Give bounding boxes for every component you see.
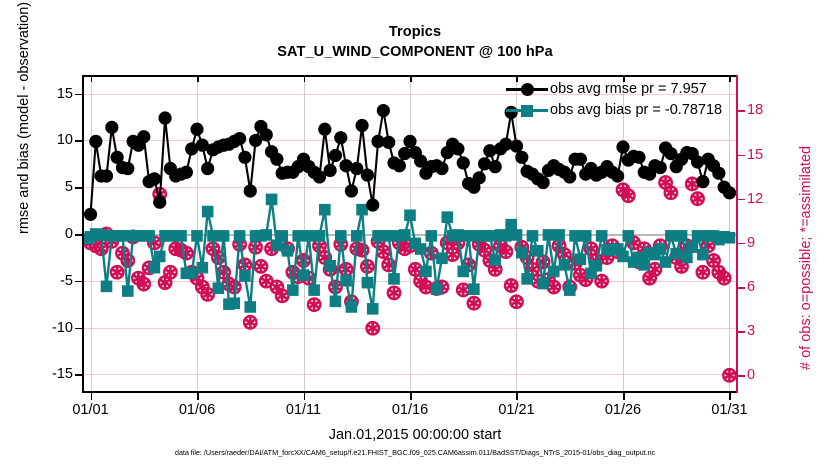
bias-point-marker [505,219,517,231]
x-axis-title: Jan.01,2015 00:00:00 start [0,427,830,443]
rmse-point-marker [366,198,379,211]
x-axis-tick [91,393,93,400]
bias-point-marker [457,266,469,278]
rmse-point-marker [510,139,523,152]
rmse-point-marker [696,175,709,188]
bias-point-marker [388,273,400,285]
legend-circle-icon [521,83,534,96]
bias-point-marker [697,249,709,261]
legend-item-label: obs avg bias pr = -0.78718 [550,100,722,121]
axis-line-left [82,75,84,393]
bias-point-marker [681,252,693,264]
x-axis-tick-label: 01/01 [72,402,108,418]
rmse-point-marker [148,172,161,185]
rmse-point-marker [377,104,390,117]
bias-point-marker [197,262,209,274]
bias-point-marker [367,303,379,315]
bias-point-marker [692,230,704,242]
bias-point-marker [117,230,129,242]
rmse-point-marker [89,135,102,148]
bias-point-marker [298,269,310,281]
legend-square-icon [521,105,533,117]
bias-point-marker [266,194,278,206]
series-obs-avg-rmse-pr [84,104,736,221]
bias-point-marker [468,283,480,295]
bias-point-marker [175,230,187,242]
bias-point-marker [228,297,240,309]
axis-line-bottom [82,391,738,393]
bias-point-marker [282,245,294,257]
x-axis-tick-label: 01/26 [605,402,641,418]
bias-point-marker [101,281,113,293]
x-axis-tick [516,393,518,400]
bias-point-marker [516,247,528,259]
bias-point-marker [489,254,501,266]
bias-point-marker [383,230,395,242]
bias-point-marker [218,230,230,242]
y-axis-left-tick [75,140,82,142]
legend-marker-sample [504,100,550,121]
y-axis-left-tick [75,281,82,283]
bias-point-marker [314,230,326,242]
bias-point-marker [553,229,565,241]
data-file-footnote: data file: /Users/raeder/DAI/ATM_forcXX/… [0,448,830,457]
rmse-point-marker [238,151,251,164]
bias-point-marker [463,230,475,242]
rmse-point-marker [574,153,587,166]
y-axis-right-tick [738,331,745,333]
rmse-point-marker [244,184,257,197]
y-axis-right-tick-label: 9 [747,235,755,251]
bias-point-marker [234,230,246,242]
rmse-point-marker [403,135,416,148]
bias-point-marker [202,206,214,218]
title-line-region: Tropics [0,22,830,42]
x-axis-tick [623,393,625,400]
bias-point-marker [724,232,736,244]
bias-point-marker [425,230,437,242]
rmse-point-marker [121,162,134,175]
bias-point-marker [596,230,608,242]
x-axis-tick [304,393,306,400]
y-axis-left-tick [75,234,82,236]
rmse-point-marker [457,156,470,169]
bias-point-marker [330,296,342,308]
bias-point-marker [292,230,304,242]
rmse-point-marker [712,167,725,180]
bias-point-marker [580,230,592,242]
y-axis-left-tick [75,187,82,189]
legend-marker-sample [504,79,550,100]
y-axis-right-tick [738,199,745,201]
y-axis-right-tick-label: 15 [747,147,763,163]
bias-point-marker [564,284,576,296]
bias-point-marker [543,229,555,241]
rmse-point-marker [270,153,283,166]
x-axis-tick [729,393,731,400]
bias-point-marker [287,284,299,296]
plot-area: 151050-5-10-15181512963001/0101/0601/110… [82,75,738,393]
bias-point-marker [415,243,427,255]
axis-line-top [82,75,738,77]
bias-point-marker [122,285,134,297]
bias-point-marker [532,245,544,257]
bias-point-marker [303,230,315,242]
bias-point-marker [362,277,374,289]
rmse-point-marker [632,151,645,164]
y-axis-left-tick-label: 15 [57,86,73,102]
bias-point-marker [319,204,331,216]
bias-point-marker [431,283,443,295]
x-axis-tick [197,393,199,400]
bias-point-marker [260,229,272,241]
y-axis-left-tick [75,328,82,330]
rmse-point-marker [451,142,464,155]
y-axis-right-tick [738,243,745,245]
bias-point-marker [324,260,336,272]
chart-figure: Tropics SAT_U_WIND_COMPONENT @ 100 hPa r… [0,0,830,470]
rmse-point-marker [105,121,118,134]
bias-point-marker [575,253,587,265]
bias-point-marker [548,266,560,278]
series-layer [82,75,738,393]
x-axis-tick-label: 01/31 [711,402,747,418]
rmse-point-marker [616,140,629,153]
bias-point-marker [436,253,448,265]
bias-point-marker [239,270,251,282]
bias-point-marker [346,301,358,313]
rmse-point-marker [201,162,214,175]
y-axis-right-tick [738,155,745,157]
bias-point-marker [276,230,288,242]
y-axis-left-tick-label: -5 [60,273,73,289]
chart-title: Tropics SAT_U_WIND_COMPONENT @ 100 hPa [0,22,830,62]
rmse-point-marker [190,123,203,136]
bias-point-marker [82,233,94,245]
bias-point-marker [399,229,411,241]
bias-point-marker [340,275,352,287]
rmse-point-marker [84,208,97,221]
bias-point-marker [207,230,219,242]
y-axis-left-title: rmse and bias (model - observation) [16,2,32,234]
bias-point-marker [154,251,166,263]
bias-point-marker [617,251,629,263]
rmse-point-marker [137,130,150,143]
bias-point-marker [191,230,203,242]
rmse-point-marker [318,123,331,136]
rmse-point-marker [654,161,667,174]
bias-point-marker [591,260,603,272]
bias-point-marker [149,262,161,274]
y-axis-left-tick [75,94,82,96]
rmse-point-marker [393,159,406,172]
bias-point-marker [511,229,523,241]
rmse-point-marker [260,128,273,141]
bias-point-marker [676,230,688,242]
legend-item-rmse[interactable]: obs avg rmse pr = 7.957 [504,79,736,100]
bias-point-marker [670,248,682,260]
rmse-point-marker [158,111,171,124]
y-axis-left-tick-label: 0 [65,226,73,242]
rmse-point-marker [180,166,193,179]
bias-point-marker [521,273,533,285]
bias-point-marker [559,259,571,271]
rmse-point-marker [334,131,347,144]
bias-point-marker [527,230,539,242]
y-axis-right-tick [738,375,745,377]
legend-item-bias[interactable]: obs avg bias pr = -0.78718 [504,100,736,121]
bias-point-marker [308,284,320,296]
bias-point-marker [452,229,464,241]
rmse-point-marker [153,196,166,209]
bias-point-marker [404,209,416,221]
bias-point-marker [213,282,225,294]
bias-point-marker [356,204,368,216]
y-axis-right-tick-label: 6 [747,279,755,295]
y-axis-left-tick-label: -10 [52,320,73,336]
rmse-point-marker [355,119,368,132]
bias-point-marker [500,230,512,242]
legend-item-label: obs avg rmse pr = 7.957 [550,79,707,100]
bias-point-marker [686,241,698,253]
rmse-point-marker [489,160,502,173]
bias-point-marker [186,267,198,279]
bias-point-marker [537,278,549,290]
rmse-point-marker [723,186,736,199]
rmse-point-marker [473,171,486,184]
rmse-point-marker [382,136,395,149]
y-axis-left-tick-label: 5 [65,179,73,195]
bias-point-marker [569,230,581,242]
x-axis-tick [410,393,412,400]
y-axis-right-tick-label: 18 [747,102,763,118]
x-axis-tick-label: 01/11 [286,402,321,418]
y-axis-right-tick-label: 12 [747,191,763,207]
y-axis-left-tick-label: 10 [57,132,73,148]
rmse-point-marker [100,169,113,182]
rmse-point-marker [537,176,550,189]
x-axis-tick-label: 01/16 [392,402,428,418]
y-axis-right-tick [738,287,745,289]
rmse-point-marker [515,151,528,164]
bias-point-marker [441,211,453,223]
bias-point-marker [660,256,672,268]
chart-legend: obs avg rmse pr = 7.957obs avg bias pr =… [504,79,736,121]
bias-point-marker [665,230,677,242]
y-axis-right-tick-label: 0 [747,367,755,383]
bias-point-marker [420,266,432,278]
bias-point-marker [244,301,256,313]
bias-point-marker [484,230,496,242]
x-axis-tick-label: 01/21 [498,402,534,418]
rmse-point-marker [361,168,374,181]
axis-line-right [736,75,738,393]
y-axis-left-tick-label: -15 [52,366,73,382]
bias-point-marker [351,230,363,242]
bias-point-marker [623,230,635,242]
bias-point-marker [143,230,155,242]
rmse-point-marker [345,184,358,197]
rmse-point-marker [329,149,342,162]
x-axis-tick-label: 01/06 [179,402,215,418]
y-axis-right-title: # of obs: o=possible; *=assimilated [798,146,814,370]
rmse-point-marker [611,169,624,182]
rmse-point-marker [435,162,448,175]
bias-point-marker [654,243,666,255]
y-axis-left-tick [75,374,82,376]
bias-point-marker [95,229,107,241]
rmse-point-marker [233,132,246,145]
title-line-variable: SAT_U_WIND_COMPONENT @ 100 hPa [0,42,830,62]
y-axis-right-tick-label: 3 [747,323,755,339]
y-axis-right-tick [738,110,745,112]
bias-point-marker [638,259,650,271]
rmse-point-marker [563,170,576,183]
rmse-point-marker [324,164,337,177]
bias-point-marker [335,230,347,242]
